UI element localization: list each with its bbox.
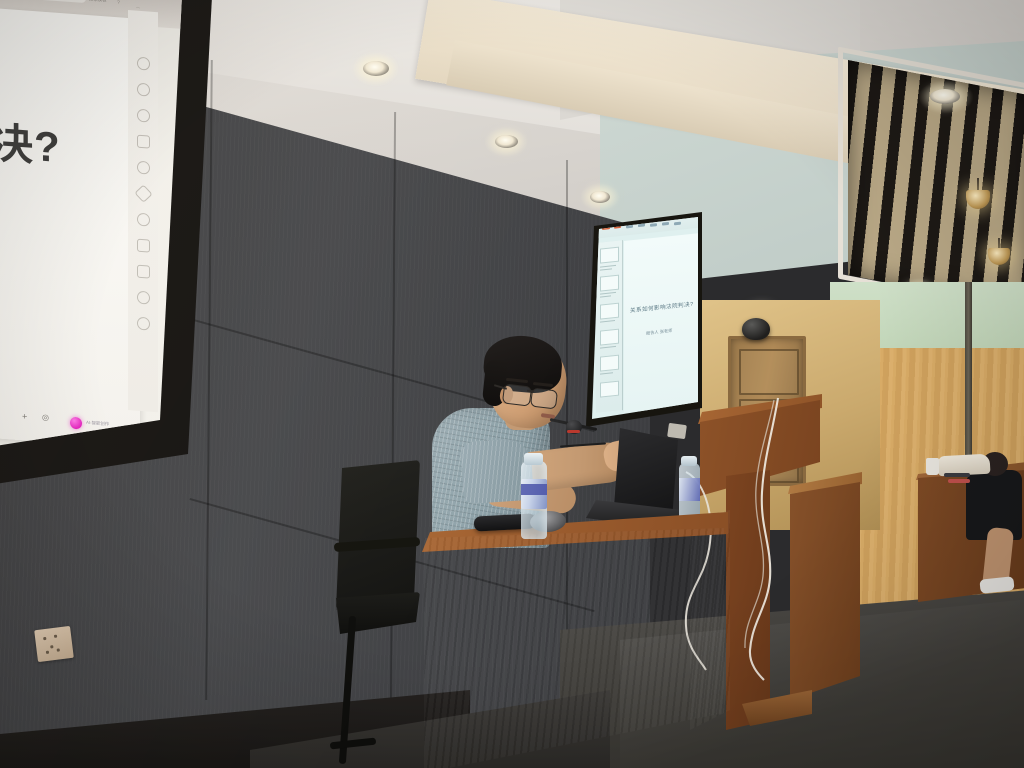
refresh-icon[interactable]: [137, 213, 150, 227]
camera-icon[interactable]: ◎: [42, 413, 49, 423]
image-icon[interactable]: [137, 265, 150, 279]
eraser-icon[interactable]: [137, 135, 150, 149]
gooseneck-mic-indicator: [567, 430, 580, 433]
add-icon[interactable]: +: [22, 411, 27, 421]
clock-icon[interactable]: [137, 291, 150, 305]
water-bottle-back-label: [679, 478, 700, 501]
downlight-2: [495, 135, 518, 148]
info-icon[interactable]: [137, 317, 150, 331]
downlight-3: [590, 191, 610, 203]
right-screen-outline-panel[interactable]: [596, 240, 623, 413]
downlight-4: [930, 89, 960, 104]
room-photo-scene: 会员专享 搜索命令 搜索模板 ? ︿ 判决?: [0, 0, 1024, 768]
water-bottle-back-cap: [681, 456, 697, 466]
ai-assistant-label: AI-智能创作: [86, 420, 109, 428]
left-screen-document-page: [0, 6, 140, 449]
dome-camera-icon: [742, 318, 770, 340]
water-bottle-front-cap: [524, 453, 543, 465]
chart-icon[interactable]: [137, 161, 150, 175]
slide-headline: 判决?: [0, 106, 61, 175]
right-screen-slide: 关系如何影响法院判决? 报告人 张老师: [624, 233, 698, 413]
downlight-1: [363, 61, 389, 76]
laptop-hinge: [667, 423, 687, 439]
wall-socket[interactable]: [34, 626, 74, 662]
water-bottle-front-label-band: [521, 484, 547, 495]
right-projection-screen[interactable]: 关系如何影响法院判决? 报告人 张老师: [592, 217, 698, 419]
glasses-right-lens: [530, 387, 558, 409]
ai-assistant-icon[interactable]: [70, 417, 82, 430]
copy-icon[interactable]: [137, 239, 150, 253]
settings-icon[interactable]: [137, 57, 150, 71]
left-projection-screen[interactable]: 会员专享 搜索命令 搜索模板 ? ︿ 判决?: [0, 0, 182, 450]
desk-cup: [926, 458, 939, 475]
left-screen-tool-rail[interactable]: [128, 10, 158, 412]
star-icon[interactable]: [134, 184, 152, 202]
desk-item-pen: [944, 473, 970, 477]
collapse-icon[interactable]: ︿: [136, 4, 140, 10]
slide-subtitle: 报告人 张老师: [646, 328, 672, 337]
office-chair-back[interactable]: [336, 460, 420, 610]
slide-title: 关系如何影响法院判决?: [630, 300, 693, 315]
desk-item-book: [948, 479, 970, 483]
history-icon[interactable]: [137, 109, 150, 123]
help-icon[interactable]: ?: [117, 0, 120, 6]
shapes-icon[interactable]: [137, 83, 150, 97]
